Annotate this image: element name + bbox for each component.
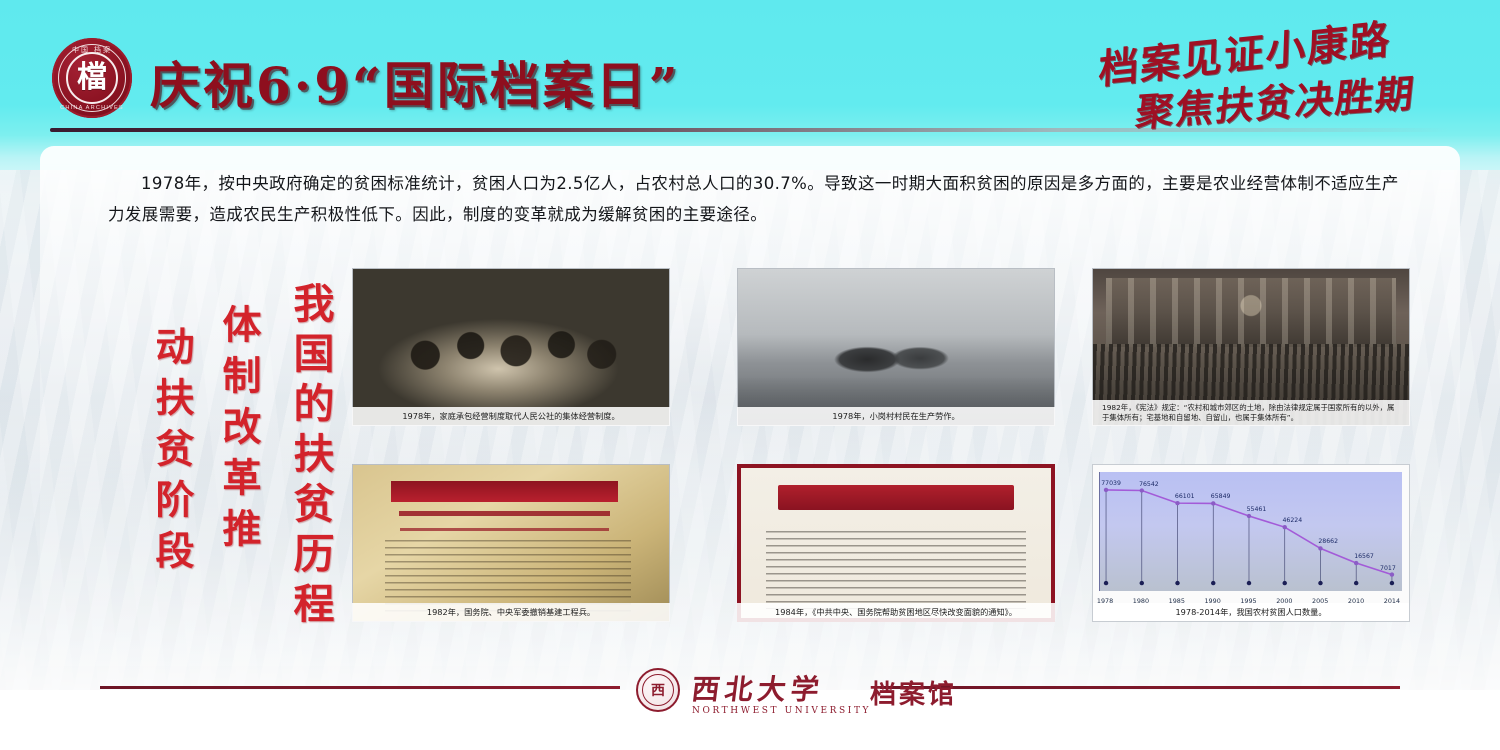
photo-card: 1982年，《宪法》规定：“农村和城市郊区的土地，除由法律规定属于国家所有的以外… [1092,268,1410,426]
chart-value-label: 16567 [1354,553,1374,560]
photo-caption: 1984年，《中共中央、国务院帮助贫困地区尽快改变面貌的通知》。 [737,603,1055,622]
northwest-university-seal-icon: 西 [636,668,680,712]
chart-axis-dots [1104,581,1394,585]
vertical-calligraphy-column-1: 我国的扶贫历程 [280,282,340,632]
photo-card: 1978年，家庭承包经营制度取代人民公社的集体经营制度。 [352,268,670,426]
footer-divider-right [880,686,1400,689]
photo-card: 1978年，小岗村村民在生产劳作。 [737,268,1055,426]
photo-image-village-meeting [352,268,670,426]
emblem-bottom-text: CHINA ARCHIVES [52,105,132,111]
chart-value-label: 77039 [1101,480,1121,487]
chart-value-label: 66101 [1175,493,1195,500]
photo-card: 1982年，国务院、中央军委撤销基建工程兵。 [352,464,670,622]
chart-value-label: 65849 [1211,493,1231,500]
photo-image-old-document [352,464,670,622]
chart-value-label: 7017 [1380,565,1396,572]
chart-drop-lines [1106,490,1392,583]
chart-value-label: 28662 [1318,538,1338,545]
footer-divider-left [100,686,620,689]
chart-frame: 197819801985199019952000200520102014 770… [1092,464,1410,622]
poster-footer: 西 西北大学 NORTHWEST UNIVERSITY 档案馆 [0,664,1500,750]
poster-root: 中国 档案 檔 CHINA ARCHIVES 庆祝6·9“国际档案日” 档案见证… [0,0,1500,750]
photo-card: 1984年，《中共中央、国务院帮助贫困地区尽快改变面貌的通知》。 [737,464,1055,622]
photo-caption: 1982年，国务院、中央军委撤销基建工程兵。 [352,603,670,622]
footer-university-name: 西北大学 NORTHWEST UNIVERSITY [692,668,871,716]
photo-caption: 1978年，家庭承包经营制度取代人民公社的集体经营制度。 [352,407,670,426]
intro-paragraph: 1978年，按中央政府确定的贫困标准统计，贫困人口为2.5亿人，占农村总人口的3… [108,168,1408,230]
chart-card: 197819801985199019952000200520102014 770… [1092,464,1410,622]
vertical-calligraphy-block: 我国的扶贫历程 体制改革推 动扶贫阶段 [140,278,340,650]
chart-value-label: 55461 [1247,506,1267,513]
photo-caption: 1978年，小岗村村民在生产劳作。 [737,407,1055,426]
vertical-calligraphy-column-3: 动扶贫阶段 [144,326,200,581]
footer-logo-glyph: 西 [642,674,674,706]
china-archives-emblem-icon: 中国 档案 檔 CHINA ARCHIVES [52,38,132,118]
footer-department-label: 档案馆 [870,674,957,711]
photo-image-ox-ploughing [737,268,1055,426]
header-calligraphy-banner: 档案见证小康路 聚焦扶贫决胜期 [1088,16,1488,134]
vertical-calligraphy-column-2: 体制改革推 [211,304,267,559]
footer-university-name-cn: 西北大学 [690,668,827,708]
chart-plot-area [1099,472,1402,591]
photo-caption: 1982年，《宪法》规定：“农村和城市郊区的土地，除由法律规定属于国家所有的以外… [1092,400,1410,426]
chart-value-label: 46224 [1282,517,1302,524]
chart-svg [1100,472,1402,591]
photo-image-cpc-central-document [737,464,1055,622]
chart-value-label: 76542 [1139,481,1159,488]
chart-caption: 1978-2014年，我国农村贫困人口数量。 [1093,603,1409,621]
page-title: 庆祝6·9“国际档案日” [150,46,681,118]
poster-header: 中国 档案 檔 CHINA ARCHIVES 庆祝6·9“国际档案日” 档案见证… [0,0,1500,146]
